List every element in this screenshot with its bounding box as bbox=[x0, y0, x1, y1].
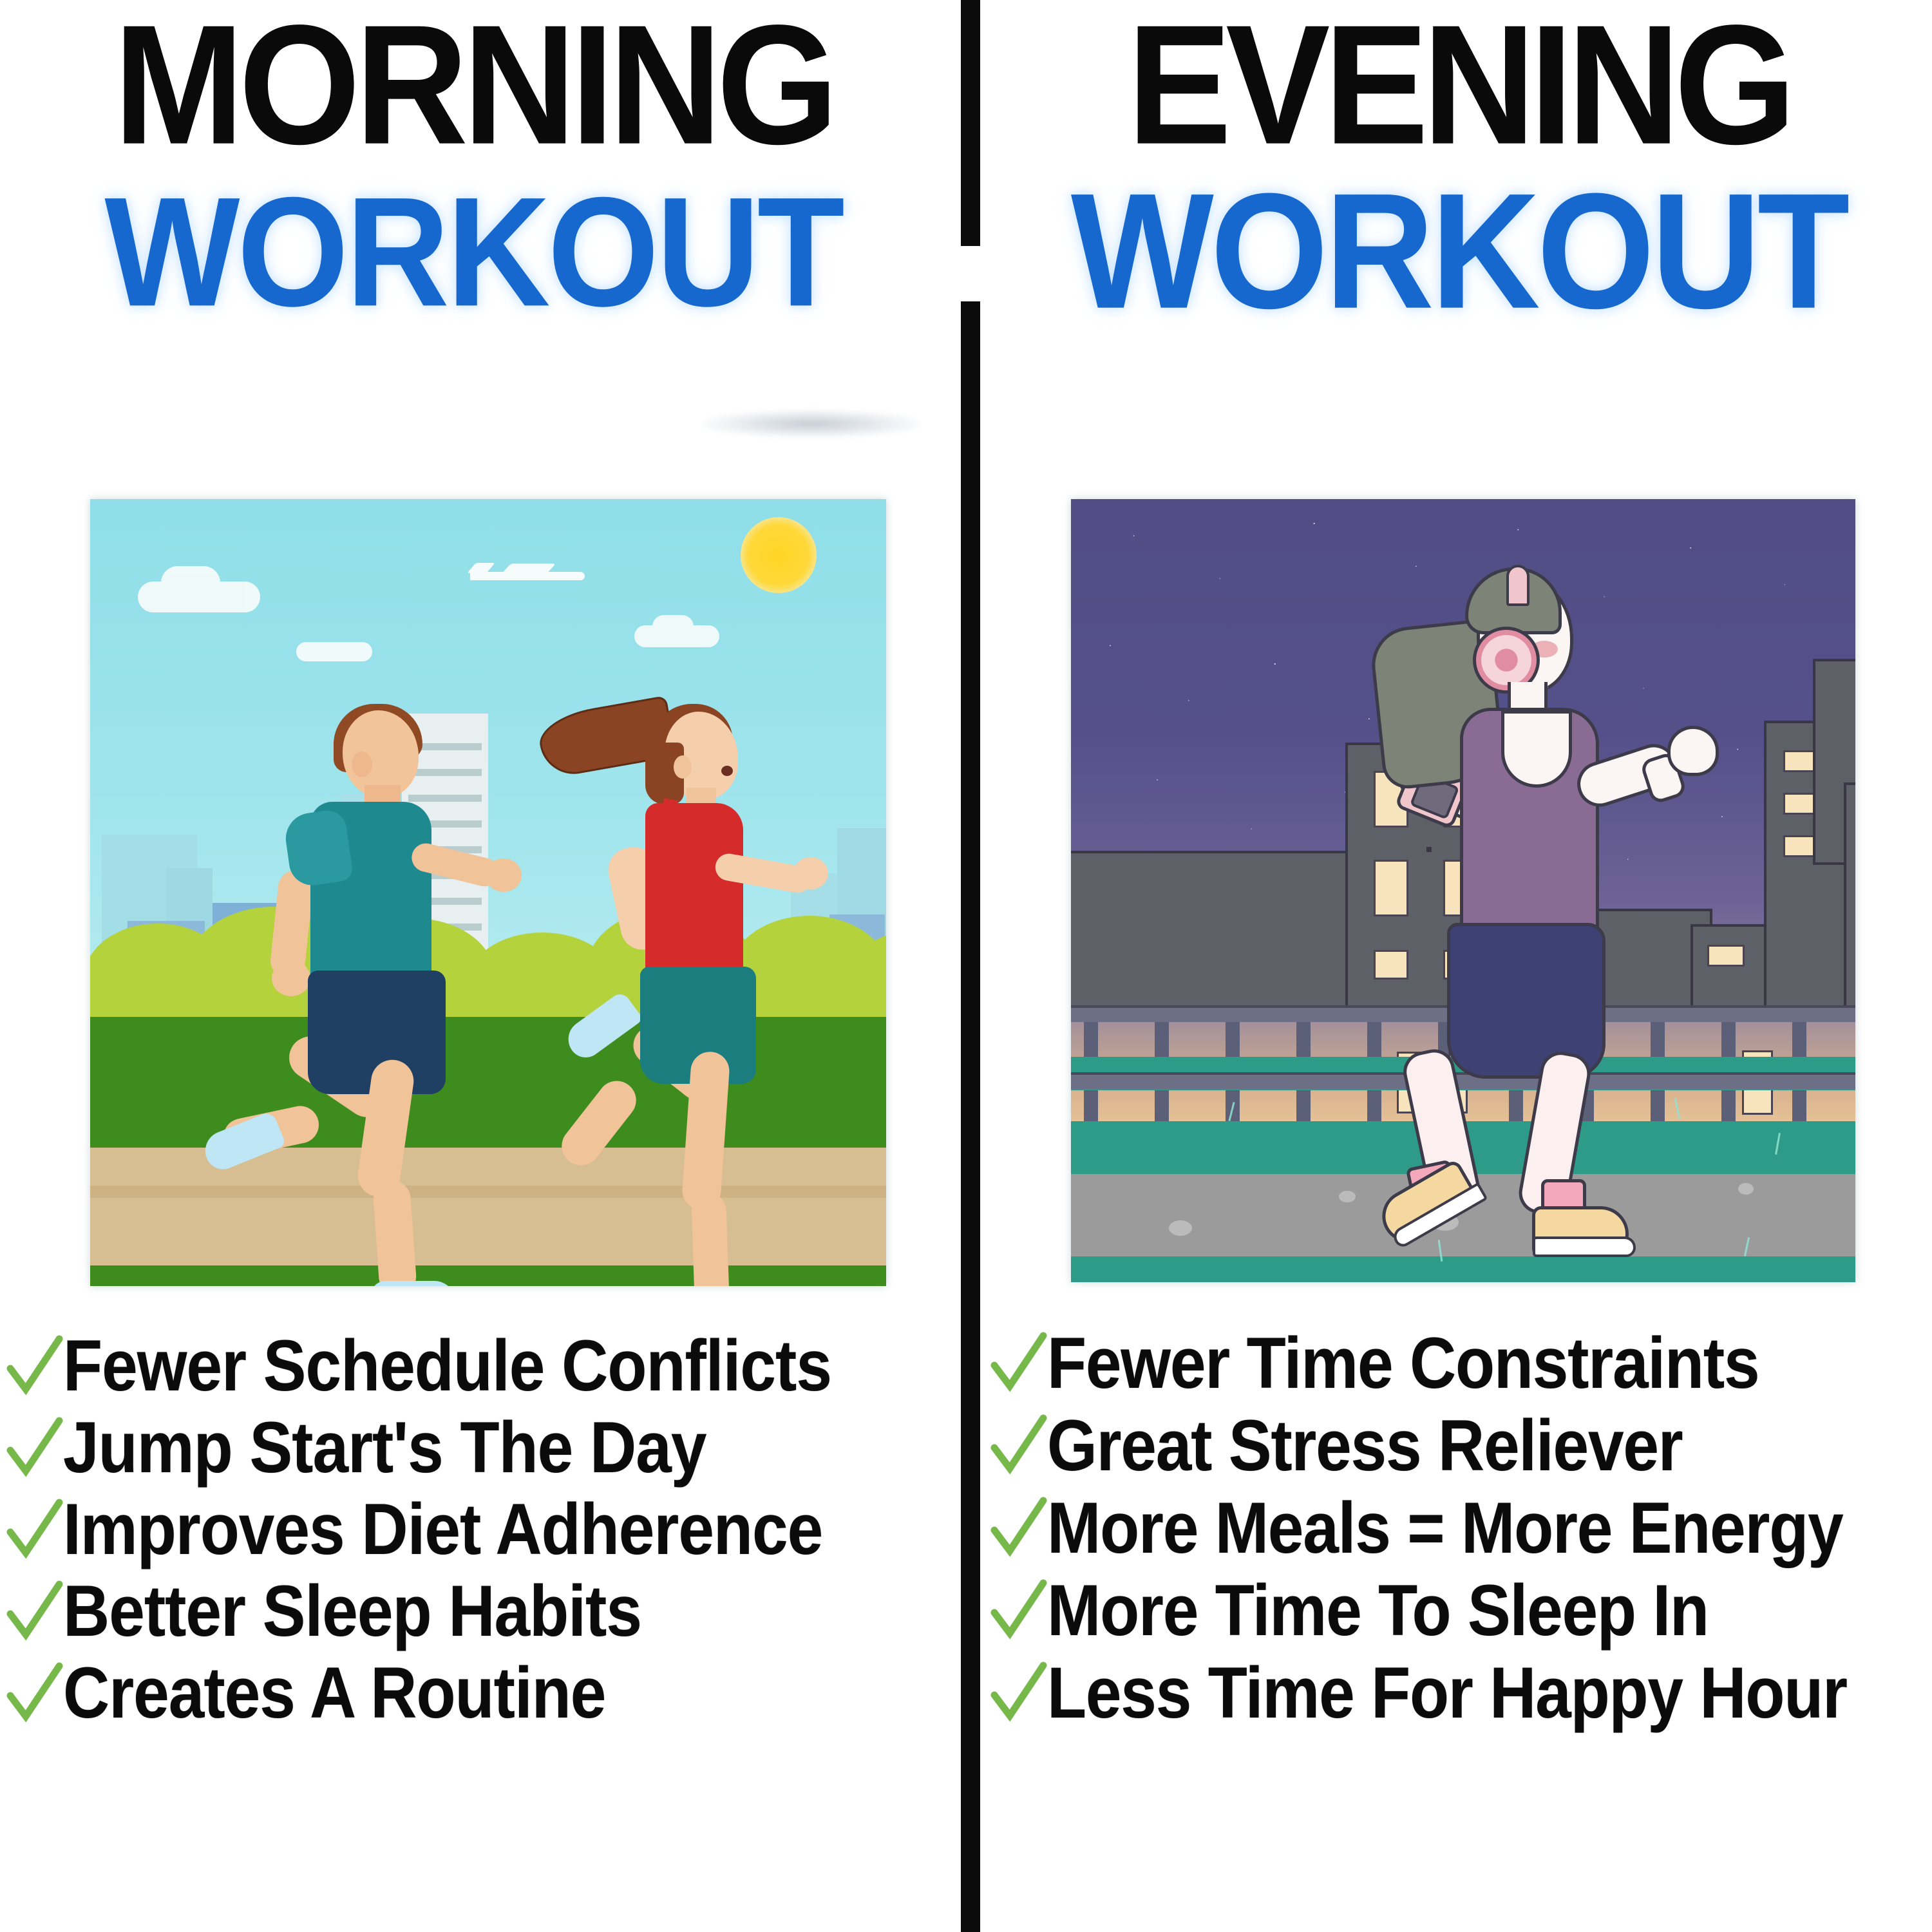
check-icon bbox=[990, 1656, 1047, 1727]
headings-area: MORNING WORKOUT EVENING WORKOUT bbox=[0, 0, 1932, 370]
check-icon bbox=[990, 1327, 1047, 1397]
pebble bbox=[1169, 1220, 1192, 1236]
list-item-label: More Meals = More Energy bbox=[1047, 1487, 1843, 1569]
background-smudge-artifact bbox=[702, 410, 921, 438]
city-building bbox=[1844, 782, 1855, 1014]
list-item: More Time To Sleep In bbox=[990, 1574, 1931, 1656]
list-item: Better Sleep Habits bbox=[6, 1575, 953, 1657]
check-icon bbox=[6, 1575, 63, 1646]
check-icon bbox=[6, 1330, 63, 1401]
check-icon bbox=[6, 1493, 63, 1564]
cloud-icon bbox=[138, 582, 260, 612]
list-item-label: Less Time For Happy Hour bbox=[1047, 1652, 1847, 1734]
list-item-label: Better Sleep Habits bbox=[63, 1571, 641, 1651]
list-item-label: Jump Start's The Day bbox=[63, 1407, 706, 1488]
heading-morning-line2: WORKOUT bbox=[0, 173, 971, 330]
grass-base-strip bbox=[90, 1265, 886, 1286]
male-runner bbox=[238, 704, 599, 1213]
airplane-icon bbox=[470, 563, 585, 585]
female-runner bbox=[567, 696, 886, 1211]
list-item-label: Fewer Schedule Conflicts bbox=[63, 1325, 831, 1406]
list-item: Fewer Time Constraints bbox=[990, 1327, 1931, 1409]
grass-band-lower bbox=[1071, 1256, 1855, 1282]
evening-female-runner bbox=[1398, 562, 1733, 1219]
sun-icon bbox=[741, 517, 817, 593]
list-item: Improves Diet Adherence bbox=[6, 1493, 953, 1575]
check-icon bbox=[990, 1574, 1047, 1645]
list-item: Fewer Schedule Conflicts bbox=[6, 1330, 953, 1412]
check-icon bbox=[990, 1409, 1047, 1480]
heading-morning: MORNING WORKOUT bbox=[0, 0, 947, 370]
list-item: More Meals = More Energy bbox=[990, 1492, 1931, 1574]
comparison-infographic: MORNING WORKOUT EVENING WORKOUT bbox=[0, 0, 1932, 1932]
vertical-divider-main bbox=[961, 301, 980, 1932]
pebble bbox=[1738, 1183, 1754, 1195]
heading-evening: EVENING WORKOUT bbox=[985, 0, 1932, 370]
list-item: Great Stress Reliever bbox=[990, 1409, 1931, 1492]
pebble bbox=[1339, 1191, 1356, 1202]
list-item: Less Time For Happy Hour bbox=[990, 1656, 1931, 1739]
heading-evening-line1: EVENING bbox=[971, 1, 1932, 169]
list-item-label: Great Stress Reliever bbox=[1047, 1405, 1683, 1487]
list-item: Creates A Routine bbox=[6, 1657, 953, 1739]
list-item-label: Improves Diet Adherence bbox=[63, 1489, 822, 1569]
cloud-icon bbox=[634, 625, 719, 647]
list-item: Jump Start's The Day bbox=[6, 1412, 953, 1493]
city-building bbox=[1071, 851, 1349, 1012]
heading-morning-line1: MORNING bbox=[0, 1, 961, 169]
list-item-label: Creates A Routine bbox=[63, 1653, 605, 1733]
morning-benefits-list: Fewer Schedule Conflicts Jump Start's Th… bbox=[6, 1330, 953, 1739]
evening-benefits-list: Fewer Time Constraints Great Stress Reli… bbox=[990, 1327, 1931, 1739]
evening-runner-illustration bbox=[1071, 499, 1855, 1282]
cloud-icon bbox=[296, 642, 372, 661]
list-item-label: More Time To Sleep In bbox=[1047, 1569, 1709, 1652]
check-icon bbox=[6, 1657, 63, 1728]
check-icon bbox=[990, 1492, 1047, 1562]
morning-runners-illustration bbox=[90, 499, 886, 1286]
heading-evening-line2: WORKOUT bbox=[961, 173, 1932, 330]
check-icon bbox=[6, 1412, 63, 1482]
list-item-label: Fewer Time Constraints bbox=[1047, 1322, 1759, 1405]
